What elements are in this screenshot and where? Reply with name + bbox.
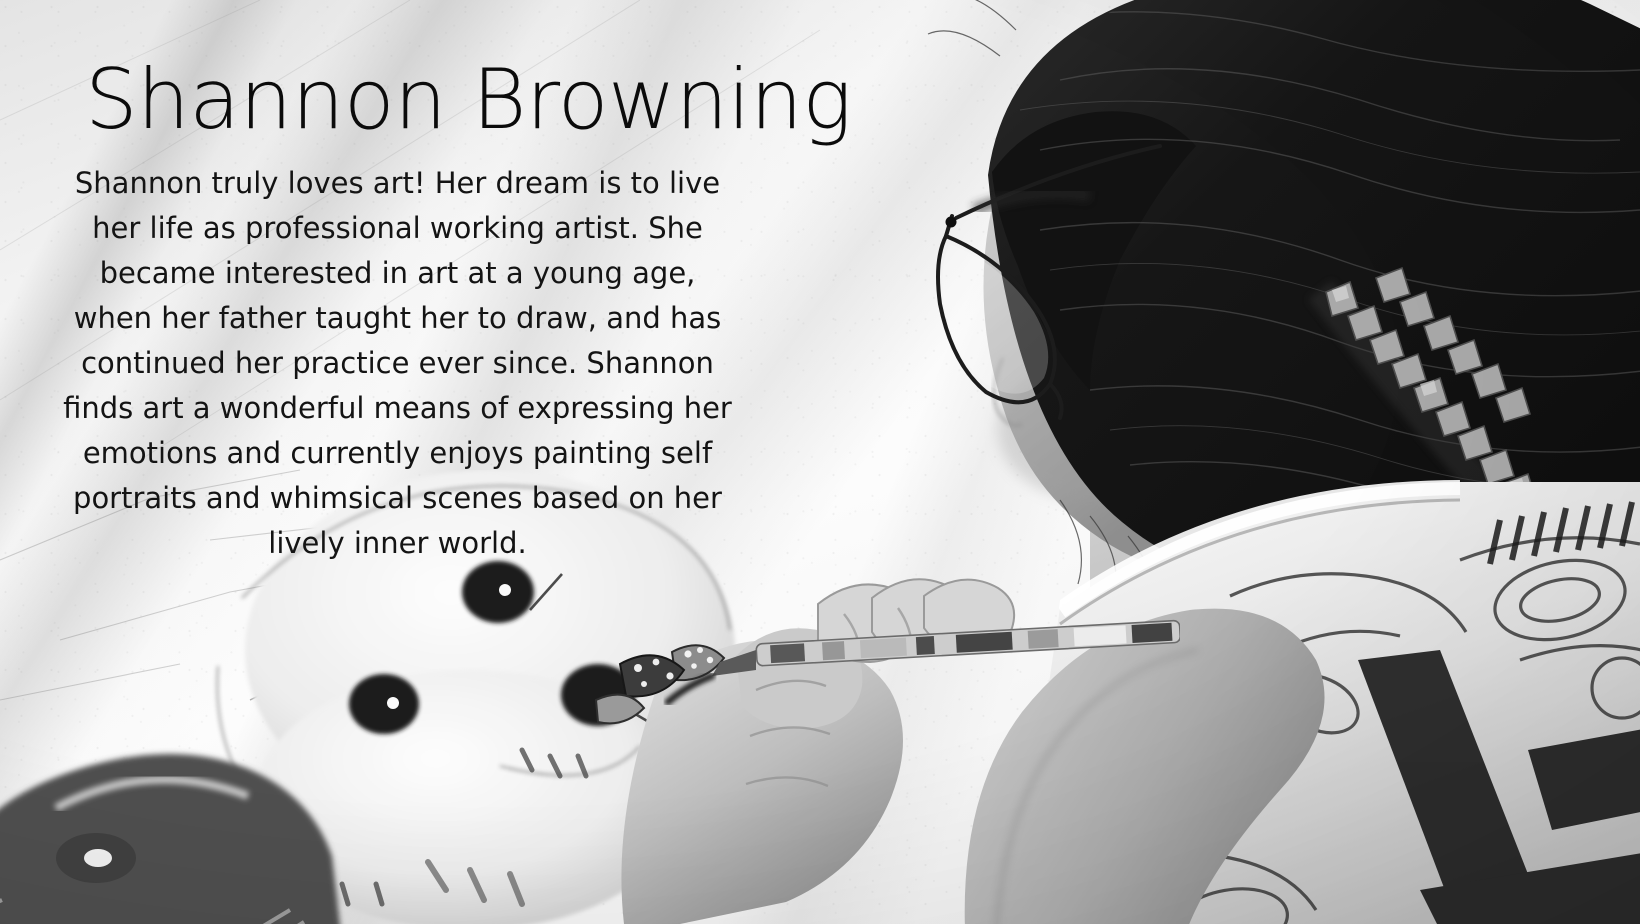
hero-banner: Shannon Browning Shannon truly loves art… bbox=[0, 0, 1640, 924]
artist-bio: Shannon truly loves art! Her dream is to… bbox=[0, 141, 793, 566]
page-title: Shannon Browning bbox=[0, 0, 915, 141]
dark-painted-shape bbox=[0, 660, 390, 924]
hero-text-block: Shannon Browning Shannon truly loves art… bbox=[0, 0, 915, 566]
painting-hand-and-brush bbox=[560, 540, 1180, 924]
